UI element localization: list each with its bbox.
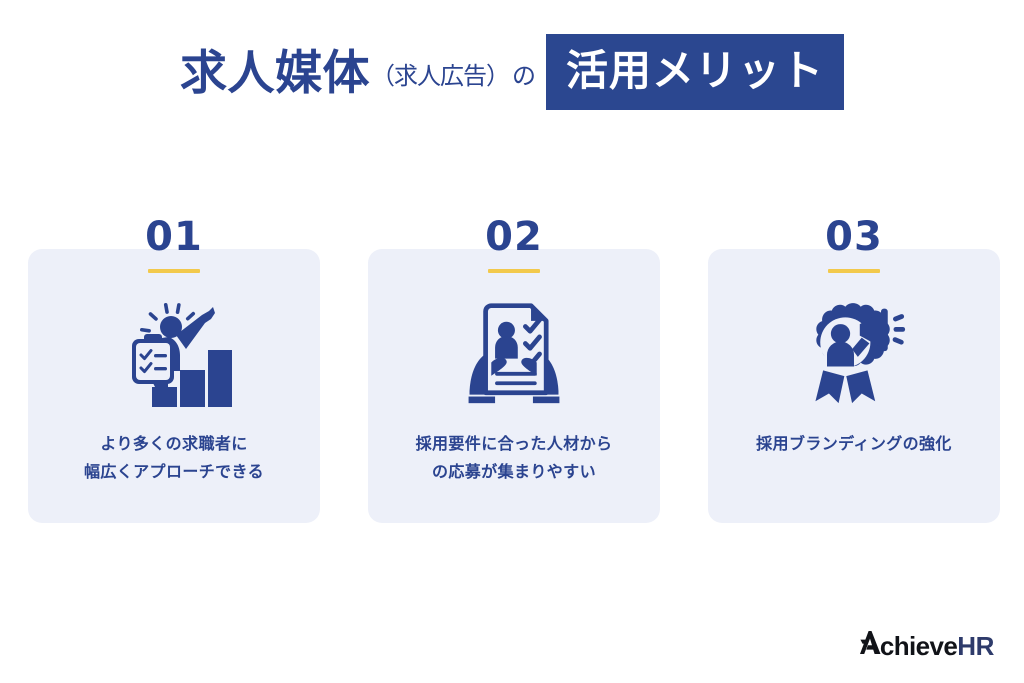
benefit-card-02-wrapper: 02 — [368, 249, 660, 523]
benefit-card-03[interactable]: 採用ブランディングの強化 — [708, 249, 1000, 523]
logo-text-hr: HR — [957, 633, 994, 659]
benefit-card-03-number-underline — [828, 269, 880, 273]
benefit-card-02-number-underline — [488, 269, 540, 273]
page-title-particle: の — [512, 65, 536, 89]
benefit-card-02[interactable]: 採用要件に合った人材から の応募が集まりやすい — [368, 249, 660, 523]
page-title-parenthetical: （求人広告） — [371, 65, 509, 89]
benefit-card-02-number: 02 — [368, 217, 660, 257]
logo-text-achieve: chieve — [880, 633, 957, 659]
benefit-card-01-wrapper: 01 — [28, 249, 320, 523]
benefit-card-02-text: 採用要件に合った人材から の応募が集まりやすい — [404, 431, 625, 486]
benefit-card-01[interactable]: より多くの求職者に 幅広くアプローチできる — [28, 249, 320, 523]
benefit-card-01-text: より多くの求職者に 幅広くアプローチできる — [72, 431, 276, 486]
page-title-highlight-badge: 活用メリット — [546, 34, 844, 110]
benefit-card-01-number-underline — [148, 269, 200, 273]
benefit-card-03-number: 03 — [708, 217, 1000, 257]
benefit-card-03-text-line-1: 採用ブランディングの強化 — [756, 431, 952, 459]
benefit-card-list: 01 — [28, 249, 995, 523]
page-title: 求人媒体 （求人広告） の 活用メリット — [0, 34, 1024, 110]
benefit-card-02-text-line-2: の応募が集まりやすい — [416, 459, 613, 487]
benefit-card-02-text-line-1: 採用要件に合った人材から — [416, 431, 613, 459]
benefit-card-01-text-line-2: 幅広くアプローチできる — [84, 459, 264, 487]
achievehr-logo: chieve HR — [860, 630, 994, 659]
hands-holding-resume-icon — [456, 297, 572, 409]
benefit-card-03-text: 採用ブランディングの強化 — [744, 431, 964, 459]
benefit-card-01-number: 01 — [28, 217, 320, 257]
clipboard-growth-chart-icon — [116, 297, 232, 409]
page-title-main: 求人媒体 — [180, 49, 370, 96]
logo-stylized-a-icon — [860, 630, 881, 659]
benefit-card-01-text-line-1: より多くの求職者に — [84, 431, 264, 459]
award-badge-megaphone-icon — [796, 297, 912, 409]
benefit-card-03-wrapper: 03 — [708, 249, 1000, 523]
